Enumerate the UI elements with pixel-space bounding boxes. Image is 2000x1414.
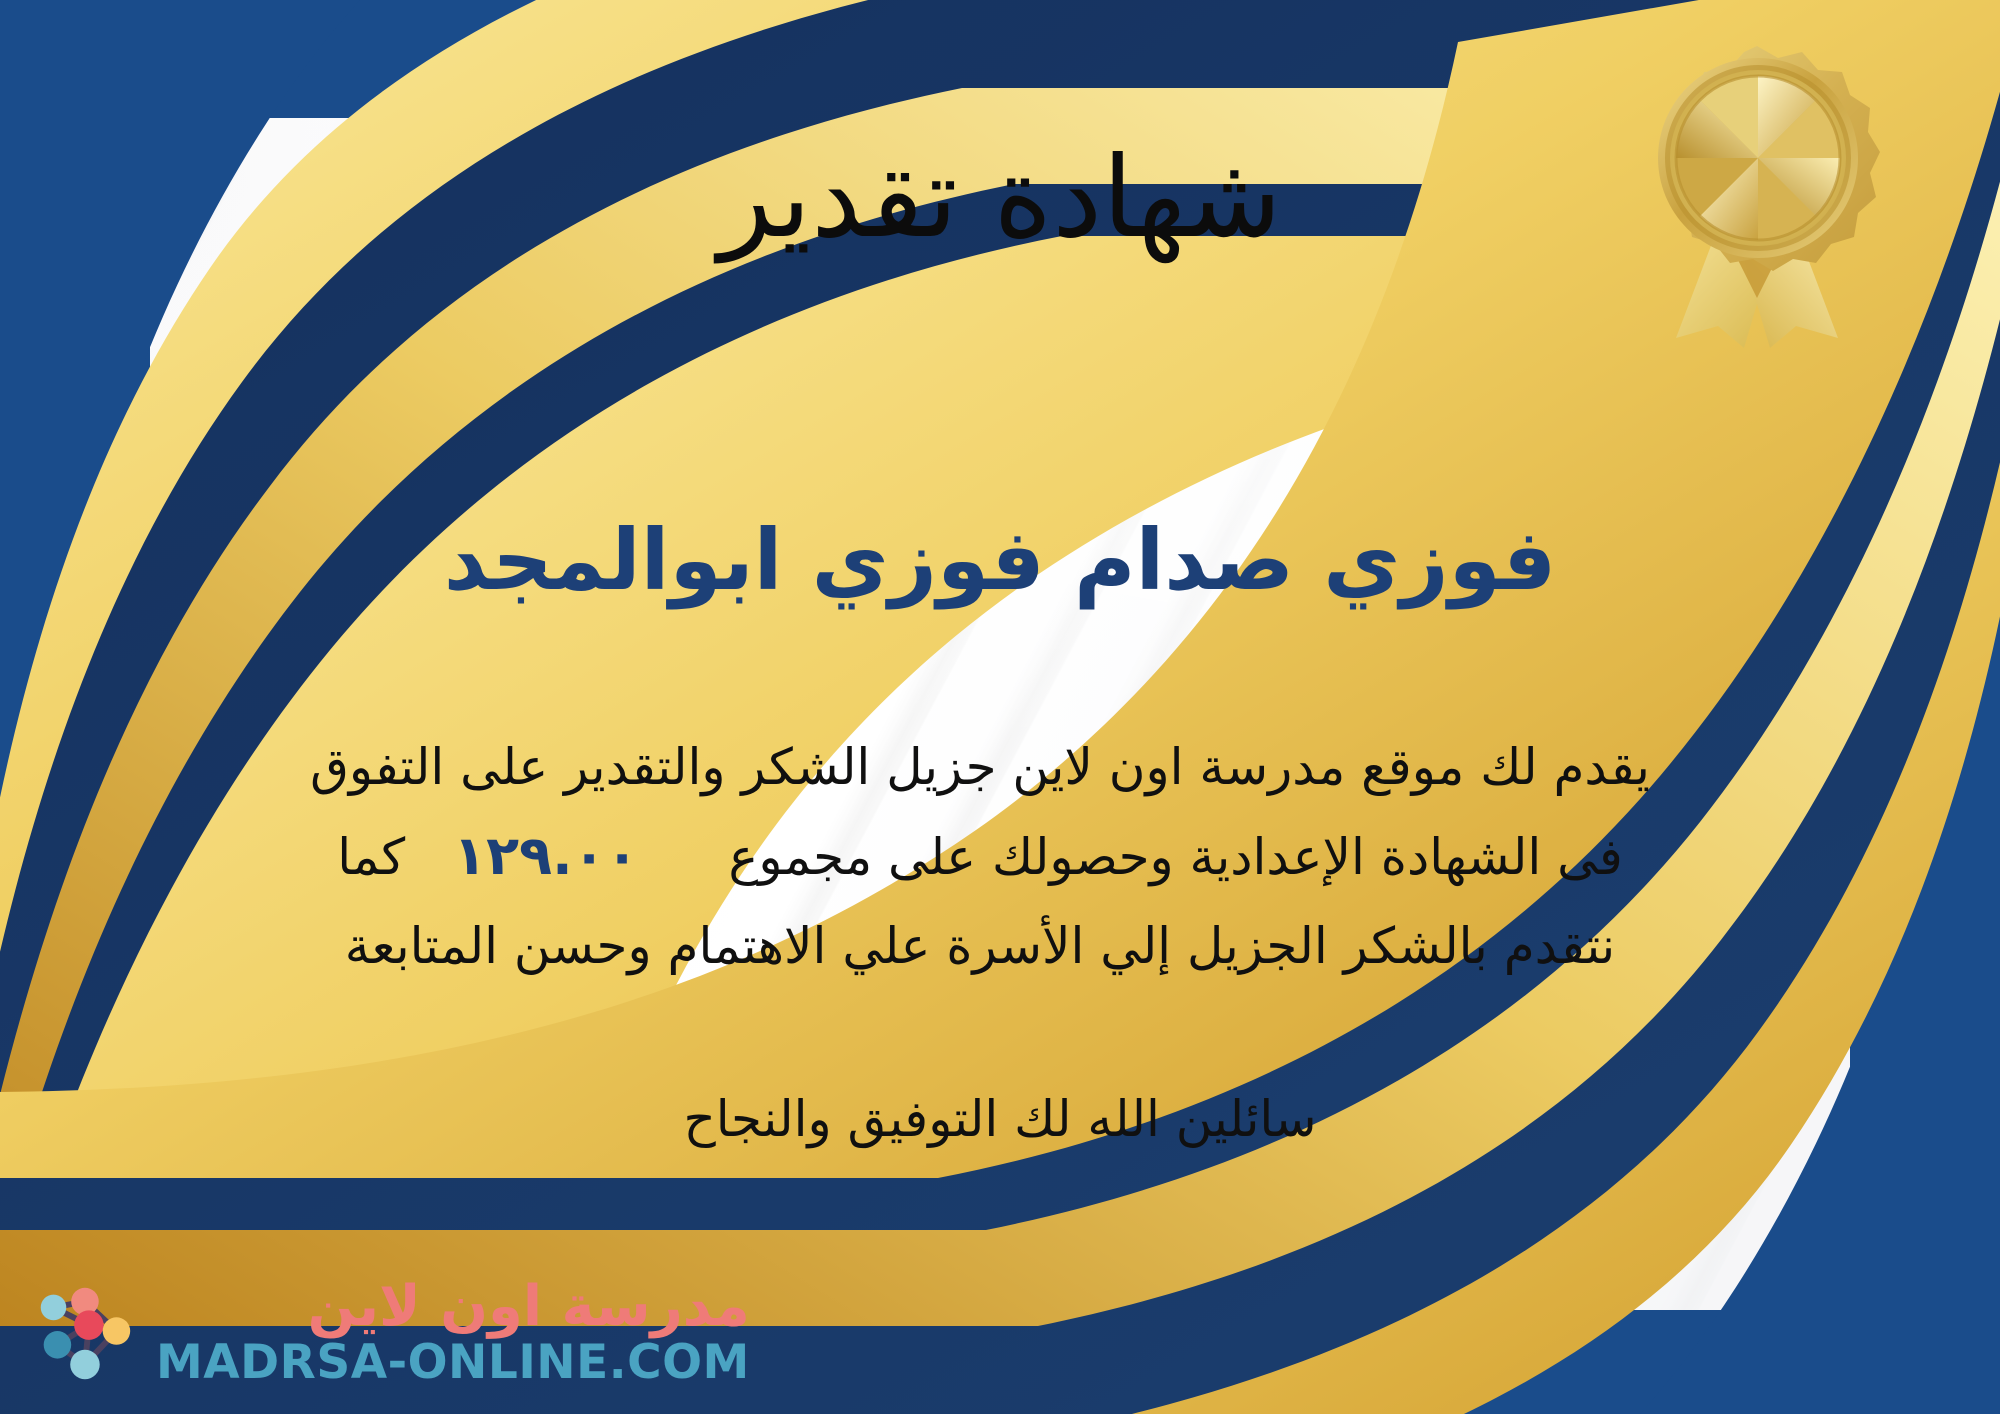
brand-name-arabic: مدرسة اون لاين (308, 1277, 750, 1336)
body-line-2: فى الشهادة الإعدادية وحصولك على مجموع ١٢… (60, 810, 1900, 903)
body-line-3: نتقدم بالشكر الجزيل إلي الأسرة علي الاهت… (60, 903, 1900, 989)
node-red (74, 1310, 104, 1340)
node-lightblue-1 (41, 1295, 67, 1321)
network-nodes-icon (24, 1274, 142, 1392)
brand-website: MADRSA-ONLINE.COM (156, 1337, 750, 1389)
node-yellow (103, 1317, 131, 1345)
body-line-2-part-1: فى الشهادة الإعدادية وحصولك على مجموع (703, 814, 1623, 900)
certificate-content: شهادة تقدير فوزي صدام فوزي ابوالمجد يقدم… (0, 0, 2000, 1414)
certificate-page: شهادة تقدير فوزي صدام فوزي ابوالمجد يقدم… (0, 0, 2000, 1414)
body-line-2-part-2: كما (337, 814, 405, 900)
recipient-name: فوزي صدام فوزي ابوالمجد (0, 510, 2000, 611)
certificate-title: شهادة تقدير (0, 132, 2000, 264)
node-lightblue-2 (70, 1350, 100, 1380)
certificate-body: يقدم لك موقع مدرسة اون لاين جزيل الشكر و… (60, 724, 1900, 989)
total-score-value: ١٢٩.٠٠ (405, 810, 702, 903)
closing-wish-line: سائلين الله لك التوفيق والنجاح (0, 1090, 2000, 1148)
brand-text: مدرسة اون لاين MADRSA-ONLINE.COM (156, 1277, 750, 1388)
brand-logo[interactable]: مدرسة اون لاين MADRSA-ONLINE.COM (24, 1274, 750, 1392)
body-line-1: يقدم لك موقع مدرسة اون لاين جزيل الشكر و… (60, 724, 1900, 810)
node-teal-dark (44, 1331, 72, 1359)
